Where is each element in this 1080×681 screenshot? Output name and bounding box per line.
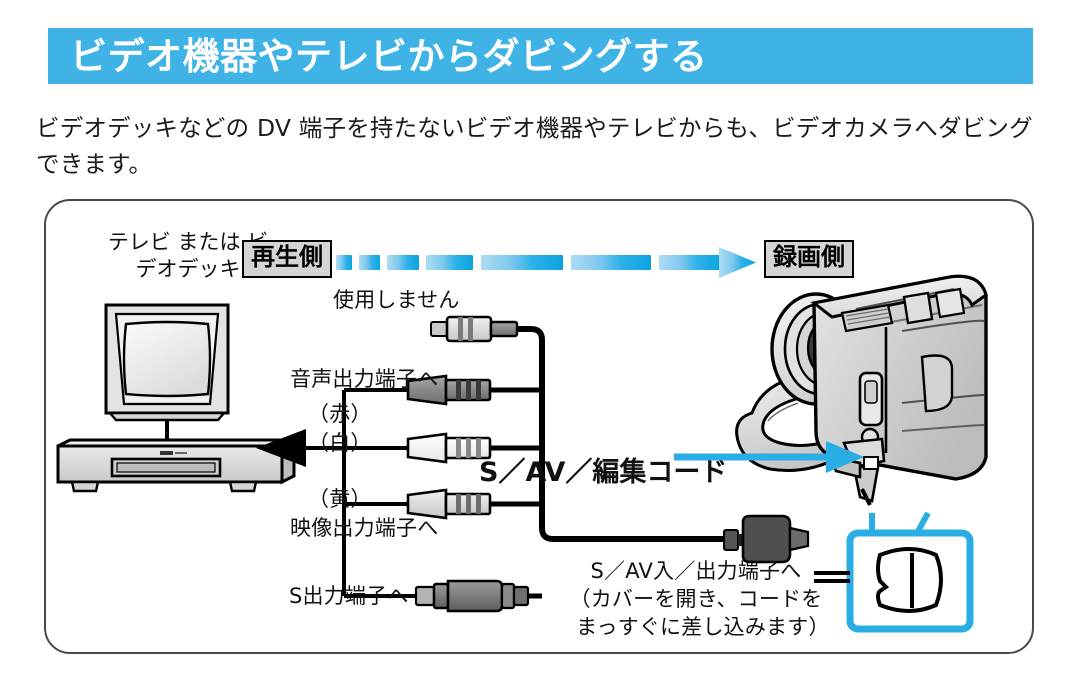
s-output-label: S出力端子へ	[289, 583, 409, 610]
playback-side-label: 再生側	[242, 240, 332, 278]
unused-plug-label: 使用しません	[333, 287, 460, 314]
video-output-label: 映像出力端子へ	[290, 515, 438, 542]
plug-label-yellow: （黄）	[308, 486, 372, 513]
diagram-panel: テレビ または ビデオデッキ 再生側 録画側	[44, 199, 1034, 654]
intro-paragraph: ビデオデッキなどの DV 端子を持たないビデオ機器やテレビからも、ビデオカメラへ…	[36, 110, 1046, 183]
audio-output-label: 音声出力端子へ	[290, 366, 438, 393]
camera-port-instruction: S／AV入／出力端子へ （カバーを開き、コードを まっすぐに差し込みます）	[546, 558, 846, 642]
camcorder-body	[814, 276, 986, 505]
s-video-plug	[416, 581, 542, 611]
port-closeup-callout	[836, 511, 996, 641]
cable-name-label: S／AV／編集コード	[479, 456, 727, 491]
plug-label-white: （白）	[308, 430, 372, 457]
page-header-bar: ビデオ機器やテレビからダビングする	[48, 28, 1033, 84]
crt-television	[106, 305, 228, 420]
tv-and-vcr-illustration	[54, 301, 299, 496]
plug-label-red: （赤）	[308, 401, 372, 428]
signal-flow-arrow	[336, 244, 756, 280]
page-title: ビデオ機器やテレビからダビングする	[70, 38, 708, 75]
manual-page: ビデオ機器やテレビからダビングする ビデオデッキなどの DV 端子を持たないビデ…	[0, 0, 1080, 681]
rca-plug-yellow	[382, 490, 542, 518]
unused-rca-plug	[431, 317, 517, 341]
camcorder-illustration	[736, 261, 1026, 551]
